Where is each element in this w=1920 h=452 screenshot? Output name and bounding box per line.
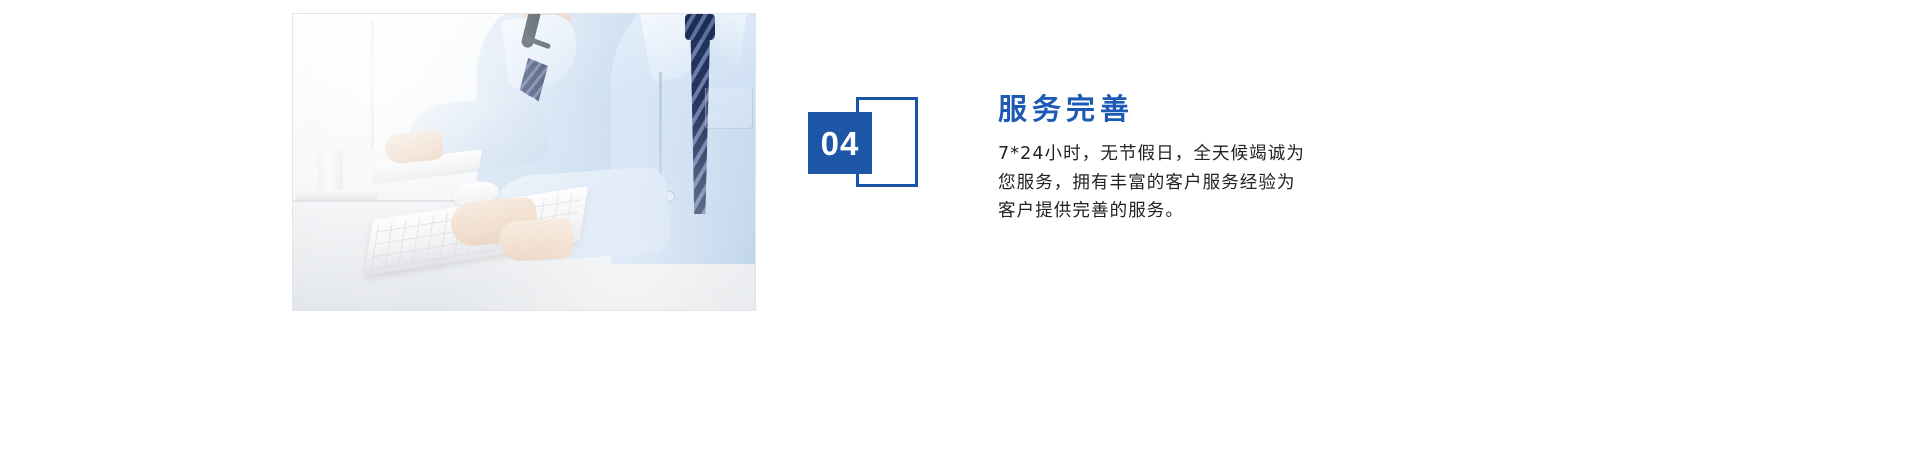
- feature-description-line-2: 您服务，拥有丰富的客户服务经验为: [998, 169, 1438, 197]
- feature-text-column: 服务完善 7*24小时，无节假日，全天候竭诚为 您服务，拥有丰富的客户服务经验为…: [998, 92, 1438, 225]
- badge-number-label: 04: [821, 127, 860, 160]
- feature-description-line-1: 7*24小时，无节假日，全天候竭诚为: [998, 140, 1438, 168]
- agent-front-hand-right: [498, 218, 574, 262]
- feature-description: 7*24小时，无节假日，全天候竭诚为 您服务，拥有丰富的客户服务经验为 客户提供…: [998, 140, 1438, 225]
- monitor-stand-base: [295, 190, 379, 200]
- feature-title: 服务完善: [998, 92, 1438, 126]
- monitor-stand-neck: [317, 150, 343, 194]
- monitor-screen-icon: [299, 22, 374, 150]
- photo-canvas: [293, 14, 755, 310]
- feature-description-line-3: 客户提供完善的服务。: [998, 197, 1438, 225]
- badge-solid-square: 04: [808, 112, 872, 174]
- agent-back-hand: [384, 129, 445, 165]
- service-team-photo: [293, 14, 755, 310]
- feature-number-badge: 04: [808, 112, 872, 174]
- agent-front-necktie-knot: [685, 14, 715, 40]
- shirt-pocket: [705, 88, 753, 129]
- feature-section: 04 服务完善 7*24小时，无节假日，全天候竭诚为 您服务，拥有丰富的客户服务…: [0, 0, 1920, 452]
